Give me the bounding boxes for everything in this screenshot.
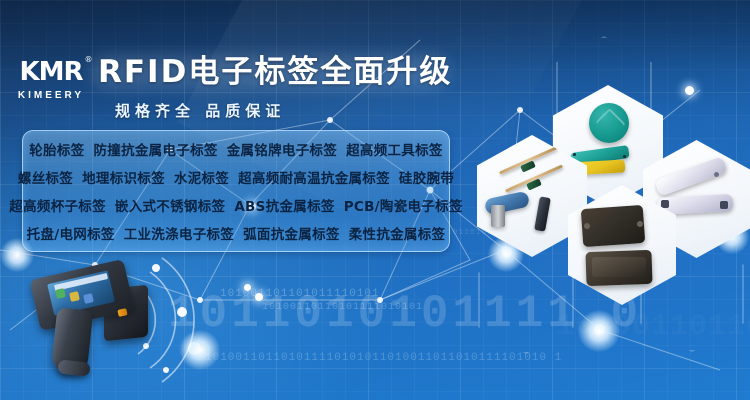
tag-item: 嵌入式不锈钢标签 <box>115 195 225 215</box>
handheld-rfid-reader[interactable] <box>28 265 178 380</box>
product-screw-tag-shaft <box>491 205 505 227</box>
logo-mark: KMR ® <box>19 59 82 85</box>
subtitle: 规格齐全 品质保证 <box>115 100 285 121</box>
tag-item: 超高频杯子标签 <box>9 195 106 215</box>
tag-item: 轮胎标签 <box>29 139 84 159</box>
glow-node <box>188 342 201 355</box>
binary-line-3: 1010011011010111101010110100110110101111… <box>205 352 562 364</box>
product-dark-rod-tag <box>534 196 551 231</box>
tag-row: 螺丝标签 地理标识标签 水泥标签 超高频耐高温抗金属标签 硅胶腕带 <box>23 164 449 190</box>
tag-item: ABS抗金属标签 <box>234 195 334 215</box>
binary-line-2: 10100110110101111010101 <box>262 302 423 313</box>
binary-large-text: 1011010101111 0 <box>168 288 642 340</box>
tag-item: PCB/陶瓷电子标签 <box>344 195 463 215</box>
brand-logo[interactable]: KMR ® KIMEERY <box>10 52 92 108</box>
product-round-tag <box>589 103 629 143</box>
glow-node <box>244 284 251 291</box>
tag-item: 金属铭牌电子标签 <box>227 139 337 159</box>
registered-trademark-icon: ® <box>85 56 92 64</box>
tag-item: 螺丝标签 <box>18 167 73 187</box>
glow-node <box>502 247 512 257</box>
tag-item: 地理标识标签 <box>82 167 165 187</box>
tag-item: 弧面抗金属标签 <box>243 223 340 243</box>
tag-row: 轮胎标签 防撞抗金属电子标签 金属铭牌电子标签 超高频工具标签 <box>23 136 449 162</box>
tag-item: 工业洗涤电子标签 <box>124 223 234 243</box>
glow-node <box>594 324 605 335</box>
tag-item: 托盘/电网标签 <box>27 223 115 243</box>
product-rugged-tag-upper <box>581 205 645 247</box>
tag-item: 柔性抗金属标签 <box>349 223 446 243</box>
binary-line-5: 101001101101011110101 <box>556 310 750 344</box>
glow-blob <box>180 330 220 370</box>
page-title: RFID电子标签全面升级 <box>98 50 452 94</box>
glow-node <box>685 86 694 95</box>
tag-item: 硅胶腕带 <box>399 167 454 187</box>
rfid-promo-banner: 1011010101111 0 101001101101011110101 10… <box>0 0 750 400</box>
tag-item: 超高频耐高温抗金属标签 <box>238 167 390 187</box>
tag-item: 水泥标签 <box>174 167 229 187</box>
headline-block: RFID电子标签全面升级 <box>98 50 452 94</box>
tag-row: 托盘/电网标签 工业洗涤电子标签 弧面抗金属标签 柔性抗金属标签 <box>23 220 449 246</box>
logo-brand-name: KIMEERY <box>18 90 84 101</box>
tag-row: 超高频杯子标签 嵌入式不锈钢标签 ABS抗金属标签 PCB/陶瓷电子标签 <box>23 192 449 218</box>
glow-node <box>255 293 263 301</box>
reader-grip-base <box>57 359 90 376</box>
tag-item: 防撞抗金属电子标签 <box>93 139 217 159</box>
logo-mark-text: KMR <box>19 57 82 87</box>
product-tag-list-panel: 轮胎标签 防撞抗金属电子标签 金属铭牌电子标签 超高频工具标签 螺丝标签 地理标… <box>22 130 450 252</box>
binary-line-1: 101001101101011110101 <box>220 288 380 300</box>
hexagon-outline <box>478 246 574 354</box>
glow-blob <box>578 310 620 352</box>
tag-item: 超高频工具标签 <box>346 139 443 159</box>
